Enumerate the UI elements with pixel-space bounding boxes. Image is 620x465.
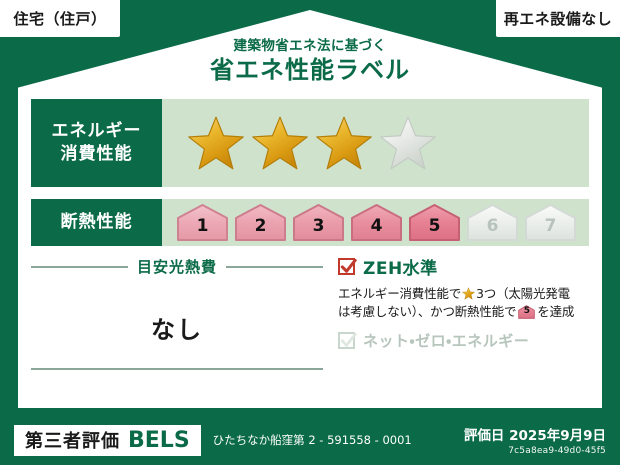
energy-performance-label: エネルギー 消費性能 bbox=[31, 99, 162, 187]
evaluation-date: 評価日 2025年9月9日 bbox=[464, 424, 606, 444]
checkmark-icon-faded bbox=[339, 331, 358, 350]
energy-performance-value bbox=[162, 99, 589, 187]
insulation-performance-value: 1 2 bbox=[162, 199, 589, 246]
star-icon-filled bbox=[315, 115, 373, 171]
footer-bar: 第三者評価 BELS ひたちなか船窪第 2 - 591558 - 0001 評価… bbox=[0, 415, 620, 465]
insulation-performance-label: 断熱性能 bbox=[31, 199, 162, 246]
energy-label-line2: 消費性能 bbox=[52, 143, 142, 166]
net-zero-energy-line: ネット・ゼロ・エネルギー bbox=[338, 330, 590, 351]
third-party-label: 第三者評価 bbox=[25, 427, 120, 453]
divider-left bbox=[31, 266, 128, 268]
title-subtitle: 建築物省エネ法に基づく bbox=[0, 38, 620, 54]
net-zero-energy-label: ネット・ゼロ・エネルギー bbox=[363, 330, 529, 351]
insulation-level-value: 2 bbox=[255, 218, 267, 242]
energy-label-line1: エネルギー bbox=[52, 120, 142, 143]
insulation-level-6: 6 bbox=[466, 203, 519, 242]
energy-performance-row: エネルギー 消費性能 bbox=[31, 99, 589, 187]
insulation-level-value: 7 bbox=[545, 218, 557, 242]
star-icon-filled bbox=[251, 115, 309, 171]
insulation-level-value: 4 bbox=[371, 218, 383, 242]
zeh-description: エネルギー消費性能で3つ（太陽光発電は考慮しない）、かつ断熱性能で5を達成 bbox=[338, 285, 590, 321]
utility-cost-title: 目安光熱費 bbox=[137, 256, 217, 277]
insulation-badge-inline-value: 5 bbox=[518, 305, 535, 318]
bels-energy-label: 住宅（住戸） 再エネ設備なし 建築物省エネ法に基づく 省エネ性能ラベル エネルギ… bbox=[0, 0, 620, 465]
badge-building-type: 住宅（住戸） bbox=[0, 0, 120, 37]
evaluation-info: 評価日 2025年9月9日 7c5a8ea9-49d0-45f5 bbox=[464, 424, 606, 456]
utility-cost-header: 目安光熱費 bbox=[31, 256, 323, 277]
bels-logo-text: BELS bbox=[128, 428, 190, 453]
insulation-performance-row: 断熱性能 1 bbox=[31, 199, 589, 246]
zeh-desc-part3: を達成 bbox=[537, 304, 574, 319]
zeh-desc-stars: 3つ（太陽光発電 bbox=[476, 286, 570, 301]
zeh-desc-part1: エネルギー消費性能で bbox=[338, 286, 461, 301]
divider-right bbox=[226, 266, 323, 268]
insulation-level-7: 7 bbox=[524, 203, 577, 242]
zeh-desc-part2: は考慮しない）、かつ断熱性能で bbox=[338, 304, 516, 319]
star-icon-inline bbox=[462, 287, 475, 300]
insulation-level-scale: 1 2 bbox=[162, 203, 577, 242]
bels-certification-logo: 第三者評価 BELS bbox=[14, 425, 201, 456]
insulation-level-3: 3 bbox=[292, 203, 345, 242]
star-icon-empty bbox=[379, 115, 437, 171]
insulation-level-5: 5 bbox=[408, 203, 461, 242]
insulation-level-value: 3 bbox=[313, 218, 325, 242]
insulation-level-1: 1 bbox=[176, 203, 229, 242]
divider-bottom bbox=[31, 368, 323, 370]
insulation-level-value: 1 bbox=[197, 218, 209, 242]
zeh-checkbox-checked[interactable] bbox=[338, 258, 355, 275]
net-zero-checkbox-unchecked[interactable] bbox=[338, 332, 355, 349]
star-icon-filled bbox=[187, 115, 245, 171]
badge-renewable-energy: 再エネ設備なし bbox=[496, 0, 620, 37]
insulation-level-2: 2 bbox=[234, 203, 287, 242]
zeh-standard-line: ZEH水準 bbox=[338, 254, 590, 279]
zeh-standard-label: ZEH水準 bbox=[363, 254, 438, 279]
evaluation-hash: 7c5a8ea9-49d0-45f5 bbox=[464, 446, 606, 456]
checkmark-icon bbox=[339, 257, 358, 276]
zeh-block: ZEH水準 エネルギー消費性能で3つ（太陽光発電は考慮しない）、かつ断熱性能で5… bbox=[338, 254, 590, 351]
insulation-level-value: 5 bbox=[429, 218, 441, 242]
insulation-level-4: 4 bbox=[350, 203, 403, 242]
insulation-level-value: 6 bbox=[487, 218, 499, 242]
certificate-number: ひたちなか船窪第 2 - 591558 - 0001 bbox=[213, 432, 412, 448]
utility-cost-block: 目安光熱費 なし bbox=[31, 256, 323, 384]
title-block: 建築物省エネ法に基づく 省エネ性能ラベル bbox=[0, 38, 620, 85]
star-rating bbox=[162, 115, 437, 171]
page-title: 省エネ性能ラベル bbox=[0, 57, 620, 85]
insulation-badge-inline: 5 bbox=[518, 305, 535, 319]
utility-cost-value: なし bbox=[31, 310, 323, 345]
